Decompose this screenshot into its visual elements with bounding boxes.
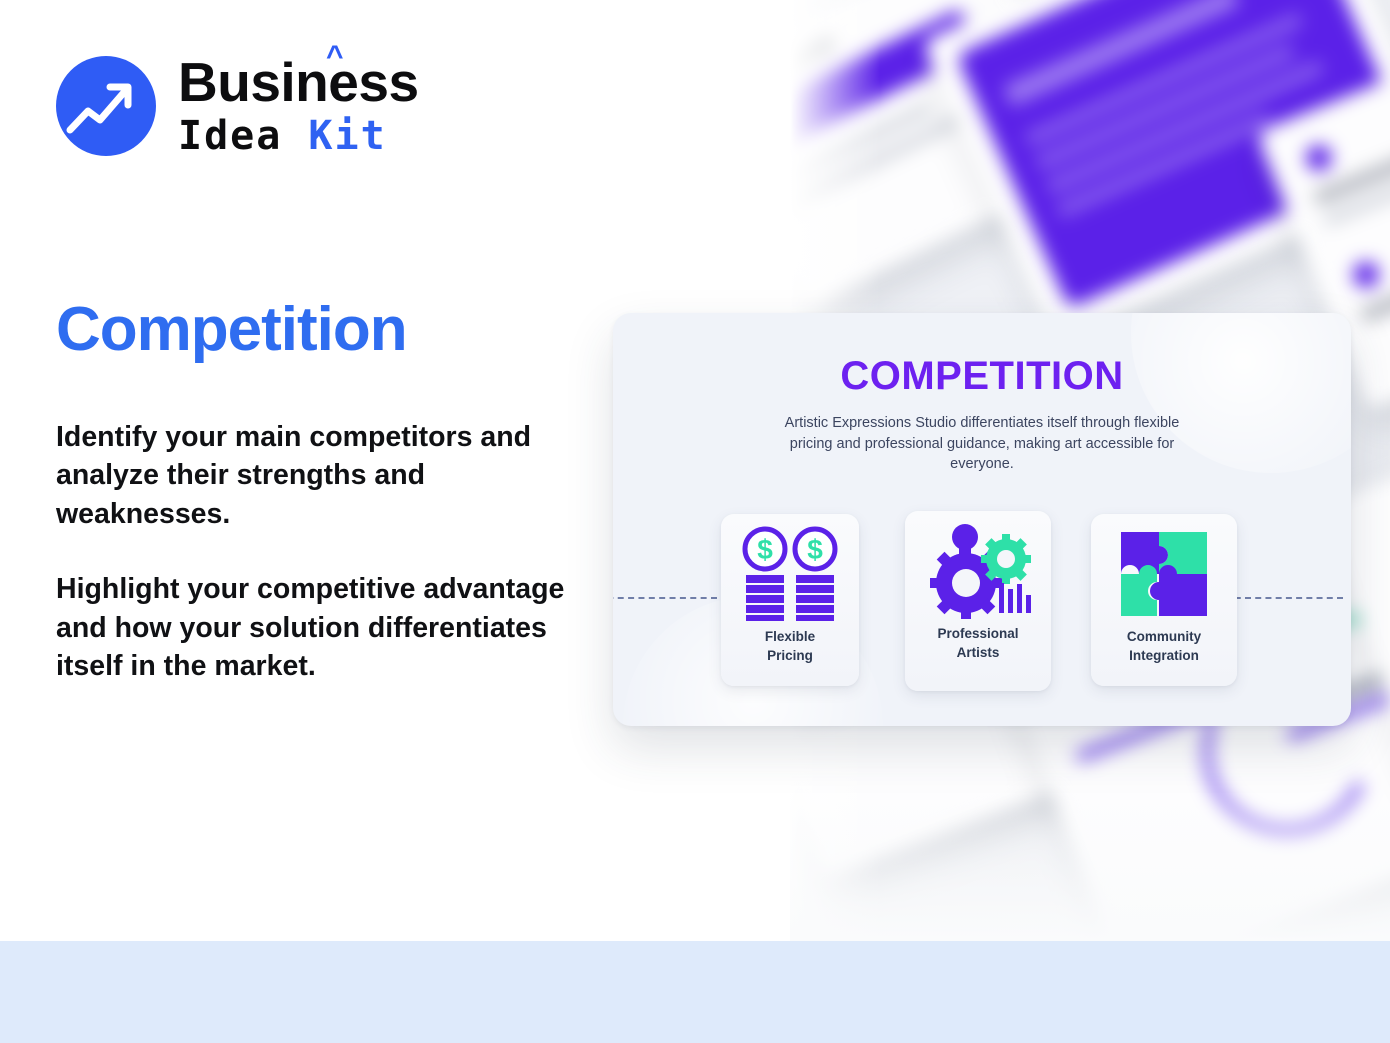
slide-page: Business ^ Idea Kit Competition Identify… bbox=[0, 0, 1390, 1043]
brand-name-kit: Kit bbox=[308, 113, 386, 159]
coin-stacks-icon: $ $ bbox=[738, 514, 842, 628]
card-title: COMPETITION bbox=[613, 354, 1351, 399]
brand-logo: Business ^ Idea Kit bbox=[56, 55, 419, 156]
feature-label-line1: Flexible bbox=[765, 629, 815, 644]
feature-tile-label: Community Integration bbox=[1121, 628, 1207, 665]
description-paragraph-2: Highlight your competitive advantage and… bbox=[56, 570, 576, 685]
brand-name-line2: Idea Kit bbox=[178, 116, 419, 156]
svg-text:$: $ bbox=[807, 534, 823, 565]
brand-name-line1-text: Business bbox=[178, 51, 419, 113]
feature-tile-label: Flexible Pricing bbox=[759, 628, 821, 665]
brand-name-line1: Business ^ bbox=[178, 55, 419, 110]
feature-label-line1: Professional bbox=[937, 626, 1018, 641]
puzzle-pieces-icon bbox=[1115, 514, 1213, 628]
feature-label-line2: Pricing bbox=[767, 648, 813, 663]
card-description: Artistic Expressions Studio differentiat… bbox=[782, 413, 1182, 475]
brand-name-idea: Idea bbox=[178, 113, 282, 159]
feature-tile-community-integration[interactable]: Community Integration bbox=[1091, 514, 1237, 686]
page-title: Competition bbox=[56, 297, 407, 362]
svg-text:$: $ bbox=[757, 534, 773, 565]
page-description: Identify your main competitors and analy… bbox=[56, 418, 576, 686]
description-paragraph-1: Identify your main competitors and analy… bbox=[56, 418, 576, 533]
feature-tile-label: Professional Artists bbox=[931, 625, 1024, 662]
feature-label-line2: Integration bbox=[1129, 648, 1199, 663]
footer-band bbox=[0, 941, 1390, 1043]
caret-accent-icon: ^ bbox=[326, 42, 343, 72]
feature-tile-professional-artists[interactable]: Professional Artists bbox=[905, 511, 1051, 691]
feature-tile-flexible-pricing[interactable]: $ $ bbox=[721, 514, 859, 686]
feature-tiles-row: $ $ bbox=[613, 503, 1351, 688]
brand-wordmark: Business ^ Idea Kit bbox=[178, 55, 419, 156]
competition-preview-card: COMPETITION Artistic Expressions Studio … bbox=[613, 313, 1351, 726]
feature-label-line1: Community bbox=[1127, 629, 1201, 644]
feature-label-line2: Artists bbox=[957, 645, 1000, 660]
gears-lightbulb-chart-icon bbox=[923, 511, 1033, 625]
trend-up-circle-icon bbox=[56, 56, 156, 156]
connector-dash-left bbox=[613, 597, 717, 599]
photo-bottom-fade bbox=[790, 791, 1390, 941]
